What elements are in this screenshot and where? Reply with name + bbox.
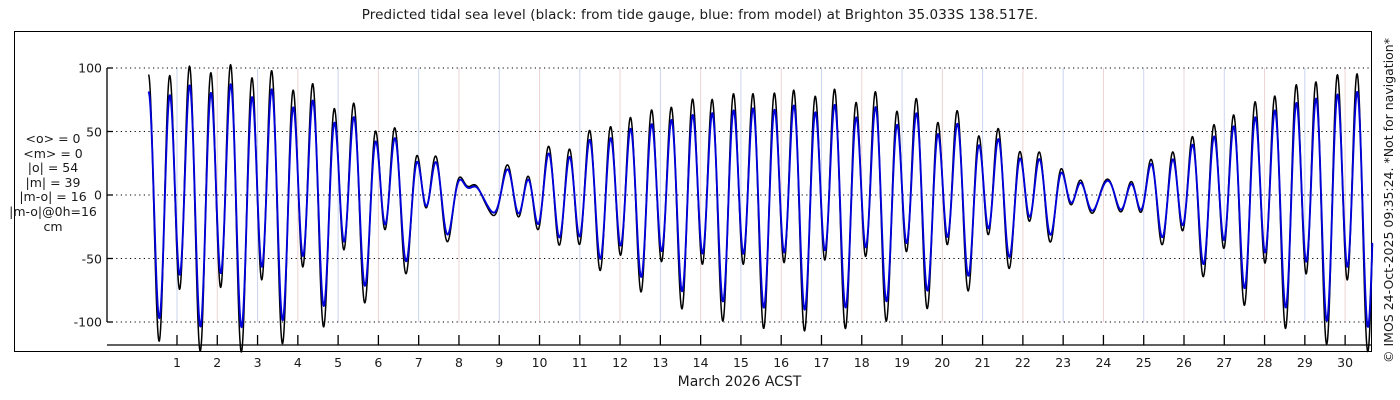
y-axis-tick-label: 0 [36, 188, 102, 203]
x-axis-tick-label: 17 [814, 355, 830, 370]
x-axis-tick-label: 21 [975, 355, 991, 370]
x-axis-tick-label: 28 [1257, 355, 1273, 370]
x-axis-tick-label: 16 [773, 355, 789, 370]
copyright-notice: © IMOS 24-Oct-2025 09:35:24. *Not for na… [1377, 0, 1399, 400]
tidal-chart-page: Predicted tidal sea level (black: from t… [0, 0, 1400, 400]
y-axis-tick-label: -50 [36, 251, 102, 266]
x-axis-tick-label: 15 [733, 355, 749, 370]
statistics-line: <m> = 0 [0, 147, 106, 162]
x-axis-tick-label: 24 [1095, 355, 1111, 370]
statistics-line: cm [0, 220, 106, 235]
x-axis-tick-label: 9 [495, 355, 503, 370]
x-axis-tick-label: 2 [213, 355, 221, 370]
x-axis-tick-label: 7 [415, 355, 423, 370]
statistics-block: <o> = 0<m> = 0|o| = 54|m| = 39|m-o| = 16… [0, 132, 106, 234]
x-axis-tick-label: 12 [612, 355, 628, 370]
y-axis-tick-label: 50 [36, 124, 102, 139]
y-axis-tick-label: 100 [36, 61, 102, 76]
x-axis-tick-label: 13 [652, 355, 668, 370]
x-axis-tick-label: 3 [254, 355, 262, 370]
x-axis-tick-label: 4 [294, 355, 302, 370]
x-axis-tick-label: 23 [1055, 355, 1071, 370]
x-axis-tick-label: 8 [455, 355, 463, 370]
x-axis-tick-label: 14 [693, 355, 709, 370]
x-axis-tick-label: 18 [854, 355, 870, 370]
x-axis-tick-label: 27 [1216, 355, 1232, 370]
x-axis-tick-label: 29 [1297, 355, 1313, 370]
statistics-line: |m-o|@0h=16 [0, 205, 106, 220]
statistics-line: |o| = 54 [0, 161, 106, 176]
page-title: Predicted tidal sea level (black: from t… [0, 7, 1400, 23]
x-axis-title: March 2026 ACST [107, 374, 1372, 390]
x-axis-tick-label: 5 [334, 355, 342, 370]
x-axis-tick-label: 11 [572, 355, 588, 370]
x-axis-tick-label: 20 [934, 355, 950, 370]
y-axis-tick-label: -100 [36, 315, 102, 330]
x-axis-tick-label: 25 [1136, 355, 1152, 370]
x-axis-tick-label: 19 [894, 355, 910, 370]
x-axis-tick-label: 26 [1176, 355, 1192, 370]
x-axis-tick-label: 6 [374, 355, 382, 370]
x-axis-tick-label: 30 [1337, 355, 1353, 370]
x-axis-tick-label: 22 [1015, 355, 1031, 370]
plot-frame [14, 31, 1372, 352]
x-axis-tick-label: 10 [532, 355, 548, 370]
copyright-text: © IMOS 24-Oct-2025 09:35:24. *Not for na… [1381, 38, 1396, 363]
x-axis-tick-label: 1 [173, 355, 181, 370]
